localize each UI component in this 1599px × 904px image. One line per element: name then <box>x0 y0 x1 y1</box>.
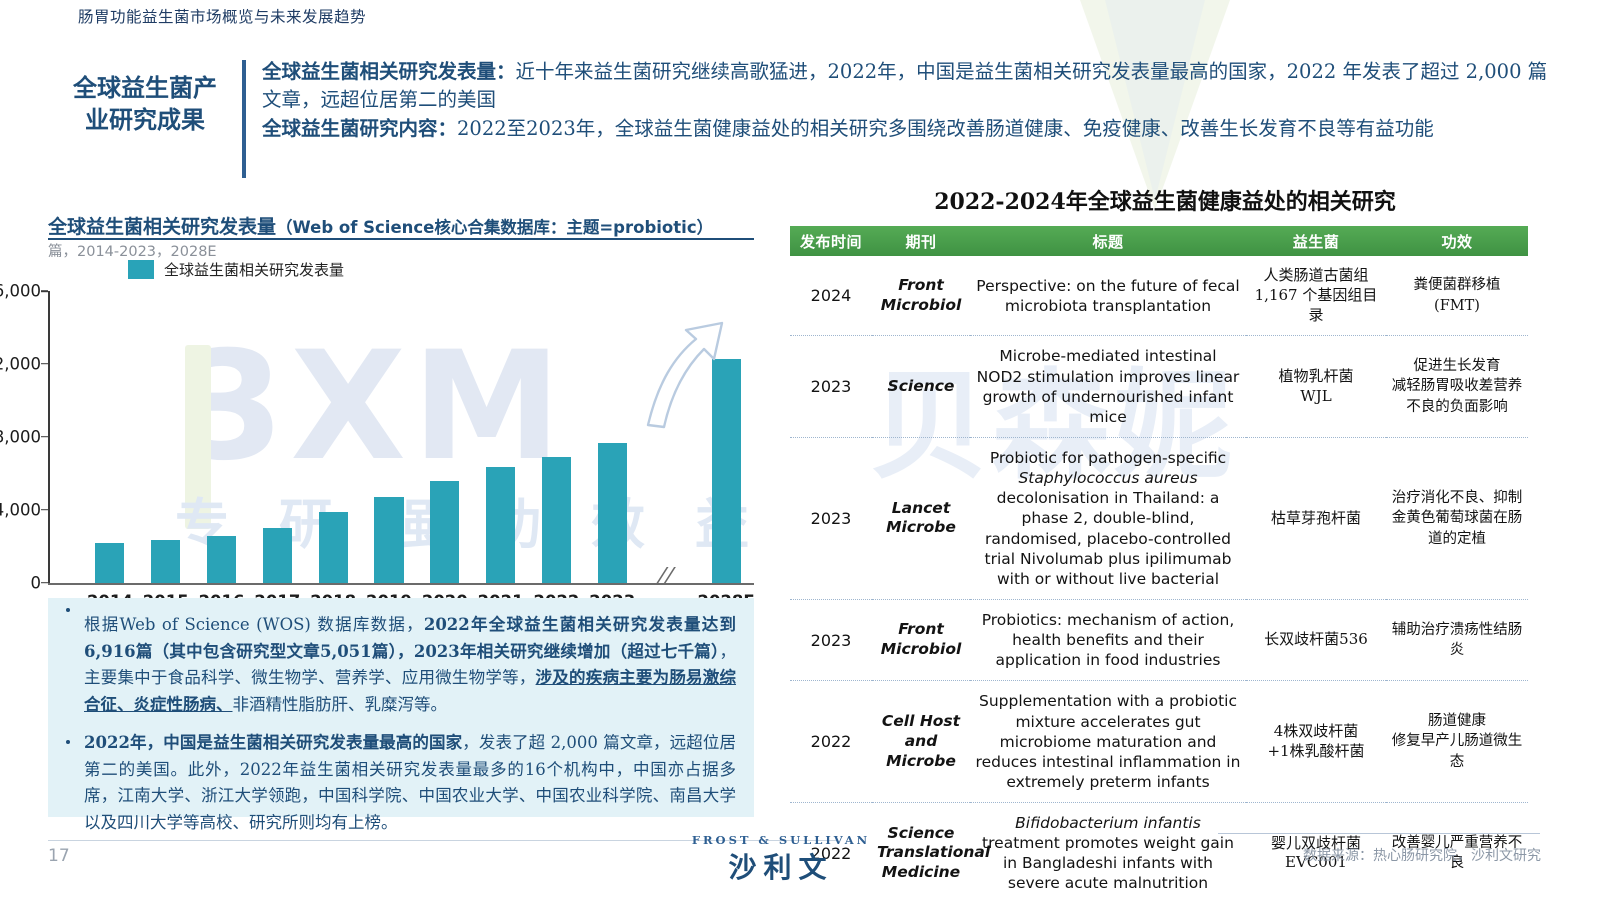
brand-name-en: FROST & SULLIVAN <box>681 833 881 847</box>
cell-probiotic: 长双歧杆菌536 <box>1246 599 1386 680</box>
cell-journal: Cell Host and Microbe <box>872 681 970 803</box>
brand-name-cn: 沙利文 <box>681 846 881 886</box>
table-header-probiotic: 益生菌 <box>1246 226 1386 256</box>
y-axis-tick-label: 12,000 <box>0 354 41 373</box>
table-row[interactable]: 2022Cell Host and MicrobeSupplementation… <box>790 681 1528 803</box>
cell-title: Probiotic for pathogen-specific Staphylo… <box>970 437 1246 599</box>
insight-segment: 根据Web of Science (WOS) 数据库数据， <box>84 615 424 634</box>
insight-segment: 2022年，中国是益生菌相关研究发表量最高的国家 <box>84 733 462 752</box>
table-header-journal: 期刊 <box>872 226 970 256</box>
insight-segment: 非酒精性脂肪肝、乳糜泻等。 <box>233 695 448 714</box>
y-axis-tick <box>41 509 48 511</box>
table-header-row: 发布时间 期刊 标题 益生菌 功效 <box>790 226 1528 256</box>
slide-root: 3XM 贝森妮 专研强功效益 肠胃功能益生菌市场概览与未来发展趋势 全球益生菌产… <box>0 0 1599 899</box>
legend-label: 全球益生菌相关研究发表量 <box>164 259 344 280</box>
cell-journal: Front Microbiol <box>872 256 970 336</box>
table-row[interactable]: 2023Lancet MicrobeProbiotic for pathogen… <box>790 437 1528 599</box>
section-title: 全球益生菌产 业研究成果 <box>55 72 235 137</box>
footer-divider-right <box>1218 833 1540 834</box>
chart-title-en: （Web of Science核心合集数据库：主题=probiotic） <box>276 218 713 237</box>
y-axis-tick-label: 0 <box>31 573 42 592</box>
table-header-title: 标题 <box>970 226 1246 256</box>
list-item: 2022年，中国是益生菌相关研究发表量最高的国家，发表了超 2,000 篇文章，… <box>48 730 754 837</box>
bar <box>319 512 348 582</box>
cell-date: 2023 <box>790 599 872 680</box>
cell-journal: Lancet Microbe <box>872 437 970 599</box>
spacer <box>48 719 754 730</box>
table-title: 2022-2024年全球益生菌健康益处的相关研究 <box>790 184 1540 216</box>
growth-arrow-icon <box>640 313 730 433</box>
table-row[interactable]: 2023Front MicrobiolProbiotics: mechanism… <box>790 599 1528 680</box>
summary-lead-2: 全球益生菌研究内容： <box>262 117 457 140</box>
x-axis <box>48 583 754 585</box>
cell-probiotic: 4株双歧杆菌+1株乳酸杆菌 <box>1246 681 1386 803</box>
research-table: 发布时间 期刊 标题 益生菌 功效 2024Front MicrobiolPer… <box>790 226 1528 904</box>
cell-journal: Front Microbiol <box>872 599 970 680</box>
chart-subtitle: 篇，2014-2023，2028E <box>48 240 217 261</box>
bullet-dot-icon <box>66 740 70 744</box>
cell-effect: 辅助治疗溃疡性结肠炎 <box>1386 599 1528 680</box>
bullet-dot-icon <box>66 608 70 612</box>
cell-effect: 促进生长发育减轻肠胃吸收差营养不良的负面影响 <box>1386 336 1528 438</box>
cell-date: 2023 <box>790 336 872 438</box>
species-name: Staphylococcus aureus <box>1018 469 1197 487</box>
table-header-date: 发布时间 <box>790 226 872 256</box>
cell-journal: Science <box>872 336 970 438</box>
bar <box>598 443 627 582</box>
insight-text-2: 2022年，中国是益生菌相关研究发表量最高的国家，发表了超 2,000 篇文章，… <box>84 730 736 837</box>
bar <box>486 467 515 583</box>
table-body: 2024Front MicrobiolPerspective: on the f… <box>790 256 1528 904</box>
bar <box>95 543 124 583</box>
summary-paragraph-2: 全球益生菌研究内容：2022至2023年，全球益生菌健康益处的相关研究多围绕改善… <box>262 115 1562 143</box>
section-title-line-2: 业研究成果 <box>55 104 235 136</box>
summary-body-2: 2022至2023年，全球益生菌健康益处的相关研究多围绕改善肠道健康、免疫健康、… <box>457 117 1434 140</box>
bar <box>263 528 292 583</box>
cell-title: Perspective: on the future of fecal micr… <box>970 256 1246 336</box>
table-row[interactable]: 2023ScienceMicrobe-mediated intestinal N… <box>790 336 1528 438</box>
bar <box>207 536 236 582</box>
brand-logo: FROST & SULLIVAN 沙利文 <box>681 833 881 886</box>
insights-panel: 根据Web of Science (WOS) 数据库数据，2022年全球益生菌相… <box>48 598 754 817</box>
bar <box>542 457 571 583</box>
y-axis-tick <box>41 363 48 365</box>
bar <box>430 481 459 582</box>
chart-plot-area: // 04,0008,00012,00016,00020142015201620… <box>48 285 754 585</box>
chart-title: 全球益生菌相关研究发表量（Web of Science核心合集数据库：主题=pr… <box>48 212 713 239</box>
summary-paragraph-1: 全球益生菌相关研究发表量：近十年来益生菌研究继续高歌猛进，2022年，中国是益生… <box>262 58 1562 113</box>
title-divider <box>242 60 246 178</box>
cell-title: Bifidobacterium infantis treatment promo… <box>970 803 1246 904</box>
y-axis-tick-label: 4,000 <box>0 500 41 519</box>
table-row[interactable]: 2024Front MicrobiolPerspective: on the f… <box>790 256 1528 336</box>
cell-title: Supplementation with a probiotic mixture… <box>970 681 1246 803</box>
cell-title: Microbe-mediated intestinal NOD2 stimula… <box>970 336 1246 438</box>
cell-journal: Science Translational Medicine <box>872 803 970 904</box>
summary-lead-1: 全球益生菌相关研究发表量： <box>262 60 516 83</box>
cell-effect: 治疗消化不良、抑制金黄色葡萄球菌在肠道的定植 <box>1386 437 1528 599</box>
chart-legend: 全球益生菌相关研究发表量 <box>128 259 344 280</box>
list-item: 根据Web of Science (WOS) 数据库数据，2022年全球益生菌相… <box>48 598 754 719</box>
cell-title: Probiotics: mechanism of action, health … <box>970 599 1246 680</box>
bar <box>374 497 403 583</box>
y-axis-tick <box>41 290 48 292</box>
cell-date: 2024 <box>790 256 872 336</box>
bar <box>151 540 180 583</box>
cell-effect: 肠道健康修复早产儿肠道微生态 <box>1386 681 1528 803</box>
table-header-effect: 功效 <box>1386 226 1528 256</box>
section-summary: 全球益生菌相关研究发表量：近十年来益生菌研究继续高歌猛进，2022年，中国是益生… <box>262 58 1562 145</box>
cell-probiotic: 植物乳杆菌WJL <box>1246 336 1386 438</box>
y-axis-tick-label: 8,000 <box>0 427 41 446</box>
insight-text-1: 根据Web of Science (WOS) 数据库数据，2022年全球益生菌相… <box>84 612 736 719</box>
cell-effect: 粪便菌群移植 (FMT) <box>1386 256 1528 336</box>
source-note: 数据来源：热心肠研究院，沙利文研究 <box>1303 845 1541 865</box>
species-name: Bifidobacterium infantis <box>1015 814 1201 832</box>
legend-swatch-icon <box>128 260 154 279</box>
y-axis-tick <box>41 582 48 584</box>
y-axis-tick <box>41 436 48 438</box>
breadcrumb: 肠胃功能益生菌市场概览与未来发展趋势 <box>78 5 366 27</box>
page-number: 17 <box>48 846 70 866</box>
chart-title-cn: 全球益生菌相关研究发表量 <box>48 216 276 238</box>
cell-probiotic: 人类肠道古菌组1,167 个基因组目录 <box>1246 256 1386 336</box>
cell-probiotic: 枯草芽孢杆菌 <box>1246 437 1386 599</box>
y-axis-tick-label: 16,000 <box>0 282 41 301</box>
section-title-line-1: 全球益生菌产 <box>55 72 235 104</box>
cell-date: 2022 <box>790 681 872 803</box>
cell-date: 2023 <box>790 437 872 599</box>
